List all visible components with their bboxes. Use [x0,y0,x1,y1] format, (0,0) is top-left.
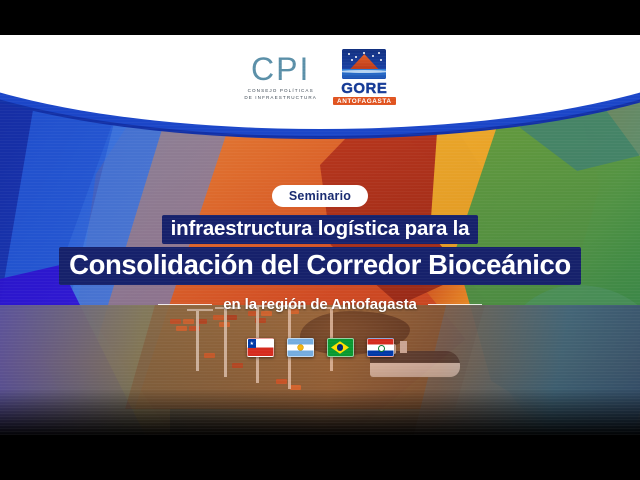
country-flags-row [0,338,640,357]
poster-frame: CPI CONSEJO POLÍTICAS DE INFRAESTRUCTURA [0,35,640,435]
cpi-wordmark: CPI [251,53,310,85]
cpi-tagline-line2: DE INFRAESTRUCTURA [244,95,317,102]
divider-right [428,304,482,306]
bottom-vignette [0,389,640,435]
chile-flag [247,338,274,357]
letterbox-bar-bottom [0,435,640,480]
video-player-stage: CPI CONSEJO POLÍTICAS DE INFRAESTRUCTURA [0,0,640,480]
divider-left [158,304,212,306]
paraguay-flag [367,338,394,357]
title-block: Seminario infraestructura logística para… [0,185,640,313]
gore-emblem-waves [342,69,386,79]
subtitle-row: en la región de Antofagasta [0,296,640,313]
title-line-2: Consolidación del Corredor Bioceánico [59,247,581,285]
gore-region-label: ANTOFAGASTA [333,97,396,105]
gore-wordmark: GORE [341,81,387,96]
seminar-badge: Seminario [272,185,368,207]
subtitle-text: en la región de Antofagasta [223,296,416,313]
gore-logo: GORE ANTOFAGASTA [333,49,396,105]
letterbox-bar-top [0,0,640,35]
gore-emblem [342,49,386,79]
logo-row: CPI CONSEJO POLÍTICAS DE INFRAESTRUCTURA [0,35,640,119]
brazil-flag [327,338,354,357]
argentina-flag [287,338,314,357]
cpi-logo: CPI CONSEJO POLÍTICAS DE INFRAESTRUCTURA [244,53,317,101]
cpi-tagline: CONSEJO POLÍTICAS DE INFRAESTRUCTURA [244,88,317,101]
cpi-tagline-line1: CONSEJO POLÍTICAS [244,88,317,95]
title-line-1: infraestructura logística para la [162,215,479,244]
